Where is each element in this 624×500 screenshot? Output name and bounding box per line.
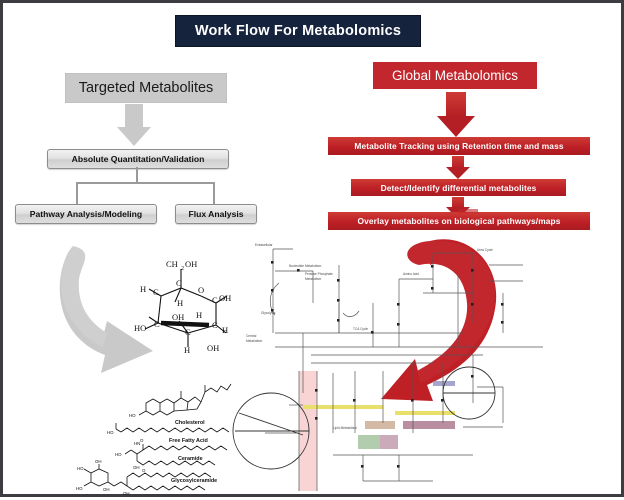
glycosylceramide-structure: HO HO OH OH OH O xyxy=(76,459,211,496)
pathway-label-urea: Urea Cycle xyxy=(477,248,493,252)
svg-text:C: C xyxy=(176,278,182,288)
flux-analysis-box[interactable]: Flux Analysis xyxy=(175,204,257,224)
svg-text:C: C xyxy=(153,287,159,297)
svg-text:H: H xyxy=(184,345,190,355)
highlight-band-green xyxy=(358,435,380,449)
red-curved-arrow-icon xyxy=(381,239,496,401)
highlight-band-mauve xyxy=(403,421,455,429)
svg-text:HO: HO xyxy=(134,323,146,333)
pathway-label-extracellular: Extracellular xyxy=(255,243,273,247)
pathway-label-central: Central xyxy=(246,334,257,338)
free-fatty-acid-label: Free Fatty Acid xyxy=(169,438,208,444)
svg-text:OH: OH xyxy=(103,487,110,492)
pathway-analysis-box[interactable]: Pathway Analysis/Modeling xyxy=(15,204,157,224)
overlay-metabolites-label: Overlay metabolites on biological pathwa… xyxy=(358,216,561,226)
tca-cycle-left xyxy=(233,393,309,469)
red-down-arrow-icon-2 xyxy=(446,156,470,179)
gray-down-arrow-icon xyxy=(117,104,151,146)
pathway-label-nucleotide: Nucleotide Metabolism xyxy=(289,264,322,268)
pathway-nodes xyxy=(271,261,504,468)
svg-text:HO: HO xyxy=(107,430,114,435)
svg-text:OH: OH xyxy=(172,312,184,322)
svg-text:O: O xyxy=(198,285,204,295)
glucose-ring: CH 2 OH O OH H C C C H OH H HO C C C H H… xyxy=(134,259,231,355)
page-title: Work Flow For Metabolomics xyxy=(175,15,421,47)
pathway-analysis-label: Pathway Analysis/Modeling xyxy=(30,209,142,219)
svg-text:OH: OH xyxy=(185,259,197,269)
ceramide-structure: HO HN O OH xyxy=(115,438,227,470)
pathway-map-labels: Extracellular Nucleotide Metabolism Pent… xyxy=(246,243,493,430)
highlight-band-tan xyxy=(365,421,395,429)
metabolite-tracking-label: Metabolite Tracking using Retention time… xyxy=(354,141,563,151)
global-metabolomics-header: Global Metabolomics xyxy=(373,62,537,89)
svg-text:CH: CH xyxy=(166,259,178,269)
tca-cycle-right xyxy=(443,367,495,419)
pathway-label-amino: Amino Acid xyxy=(403,272,419,276)
connector-horizontal xyxy=(76,182,214,184)
svg-text:O: O xyxy=(142,468,146,473)
svg-text:H: H xyxy=(222,325,228,335)
gray-curved-arrow-icon xyxy=(60,246,153,373)
highlight-band-yellow-2 xyxy=(395,411,455,415)
pathway-label-glycolysis: Glycolysis xyxy=(261,311,276,315)
flux-analysis-label: Flux Analysis xyxy=(188,209,243,219)
connector-vertical-left xyxy=(76,182,78,205)
svg-text:OH: OH xyxy=(123,491,130,496)
highlight-band-yellow xyxy=(303,405,383,409)
connector-vertical-right xyxy=(213,182,215,205)
targeted-metabolites-label: Targeted Metabolites xyxy=(79,80,214,96)
svg-text:OH: OH xyxy=(219,293,231,303)
svg-text:2: 2 xyxy=(181,266,184,272)
svg-text:HO: HO xyxy=(76,486,83,491)
svg-text:OH: OH xyxy=(133,465,140,470)
svg-text:C: C xyxy=(212,295,218,305)
svg-text:C: C xyxy=(185,327,191,337)
highlight-band-pink xyxy=(299,371,317,491)
detect-identify-box[interactable]: Detect/Identify differential metabolites xyxy=(351,179,566,196)
svg-text:HO: HO xyxy=(129,413,136,418)
pathway-label-pentose2: Metabolism xyxy=(305,277,322,281)
red-down-arrow-icon-1 xyxy=(437,92,475,137)
glycosylceramide-label: Glycosylceramide xyxy=(171,478,217,484)
free-fatty-acid-structure: HO xyxy=(107,423,229,435)
absolute-quantitation-label: Absolute Quantitation/Validation xyxy=(72,154,205,164)
lipid-structures: HO Cholesterol HO Free Fatty Acid HO HN xyxy=(76,384,231,496)
svg-text:H: H xyxy=(177,298,183,308)
metabolite-tracking-box[interactable]: Metabolite Tracking using Retention time… xyxy=(328,137,590,155)
connector-vertical-main xyxy=(136,167,138,183)
svg-text:OH: OH xyxy=(207,343,219,353)
highlight-band-violet xyxy=(433,381,455,386)
svg-text:H: H xyxy=(196,310,202,320)
absolute-quantitation-box[interactable]: Absolute Quantitation/Validation xyxy=(47,149,229,169)
svg-text:C: C xyxy=(154,319,160,329)
svg-text:HO: HO xyxy=(115,452,122,457)
global-metabolomics-label: Global Metabolomics xyxy=(392,68,518,83)
targeted-metabolites-header: Targeted Metabolites xyxy=(65,73,227,103)
cholesterol-structure: HO xyxy=(129,384,231,418)
svg-text:HN: HN xyxy=(134,441,140,446)
svg-text:HO: HO xyxy=(77,466,84,471)
pathway-label-tca: TCA Cycle xyxy=(353,327,368,331)
pathway-label-lipid: Lipid Metabolism xyxy=(333,426,357,430)
highlight-band-mauve-2 xyxy=(380,435,398,449)
svg-text:O: O xyxy=(140,438,144,443)
page-title-text: Work Flow For Metabolomics xyxy=(195,23,401,39)
figure-frame: Work Flow For Metabolomics Targeted Meta… xyxy=(0,0,624,497)
pathway-label-pentose: Pentose Phosphate xyxy=(305,272,333,276)
pathway-label-central2: Metabolism xyxy=(246,339,263,343)
svg-text:OH: OH xyxy=(95,459,102,464)
svg-text:C: C xyxy=(212,320,218,330)
svg-text:H: H xyxy=(140,284,146,294)
pathway-edges xyxy=(265,249,543,491)
detect-identify-label: Detect/Identify differential metabolites xyxy=(381,183,537,193)
cholesterol-label: Cholesterol xyxy=(175,420,205,426)
overlay-metabolites-box[interactable]: Overlay metabolites on biological pathwa… xyxy=(328,212,590,230)
ceramide-label: Ceramide xyxy=(178,456,203,462)
